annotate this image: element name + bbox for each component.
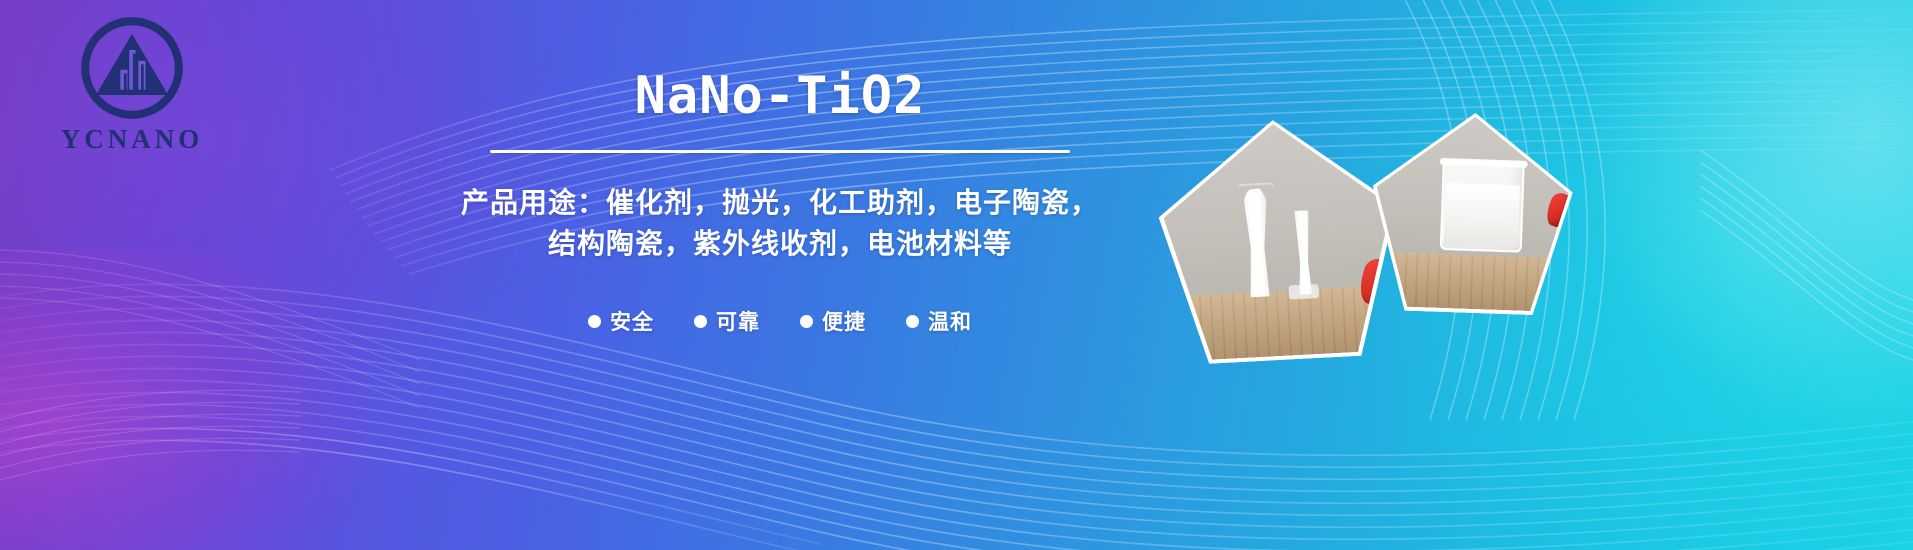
bullet-dot-icon — [588, 315, 601, 328]
brand-logo[interactable]: YCNANO — [52, 14, 212, 155]
feature-label: 可靠 — [716, 306, 760, 336]
title-divider — [490, 150, 1070, 153]
feature-item-mild: 温和 — [906, 306, 972, 336]
feature-label: 安全 — [610, 306, 654, 336]
ycnano-mountain-logo-icon — [78, 14, 186, 122]
bullet-dot-icon — [906, 315, 919, 328]
beaker-with-liquid — [1440, 160, 1525, 253]
feature-item-safe: 安全 — [588, 306, 654, 336]
brand-name: YCNANO — [52, 124, 212, 155]
feature-list: 安全 可靠 便捷 温和 — [430, 306, 1130, 336]
feature-label: 温和 — [928, 306, 972, 336]
feature-item-convenient: 便捷 — [800, 306, 866, 336]
photo-scene — [1159, 118, 1399, 362]
hero-content: NaNo-TiO2 产品用途：催化剂，抛光，化工助剂，电子陶瓷， 结构陶瓷，紫外… — [430, 70, 1130, 336]
bullet-dot-icon — [694, 315, 707, 328]
page-title: NaNo-TiO2 — [430, 70, 1130, 122]
description-line-2: 结构陶瓷，紫外线收剂，电池材料等 — [430, 224, 1130, 265]
description-line-1: 产品用途：催化剂，抛光，化工助剂，电子陶瓷， — [430, 183, 1130, 224]
feature-label: 便捷 — [822, 306, 866, 336]
bullet-dot-icon — [800, 315, 813, 328]
product-banner: YCNANO NaNo-TiO2 产品用途：催化剂，抛光，化工助剂，电子陶瓷， … — [0, 0, 1913, 550]
feature-item-reliable: 可靠 — [694, 306, 760, 336]
background-glow-magenta — [0, 250, 380, 550]
product-description: 产品用途：催化剂，抛光，化工助剂，电子陶瓷， 结构陶瓷，紫外线收剂，电池材料等 — [430, 183, 1130, 264]
milky-liquid — [1444, 183, 1520, 249]
photo-wall — [1159, 118, 1395, 297]
photo-floor — [1373, 252, 1567, 312]
product-photo-vases[interactable] — [1159, 118, 1399, 362]
